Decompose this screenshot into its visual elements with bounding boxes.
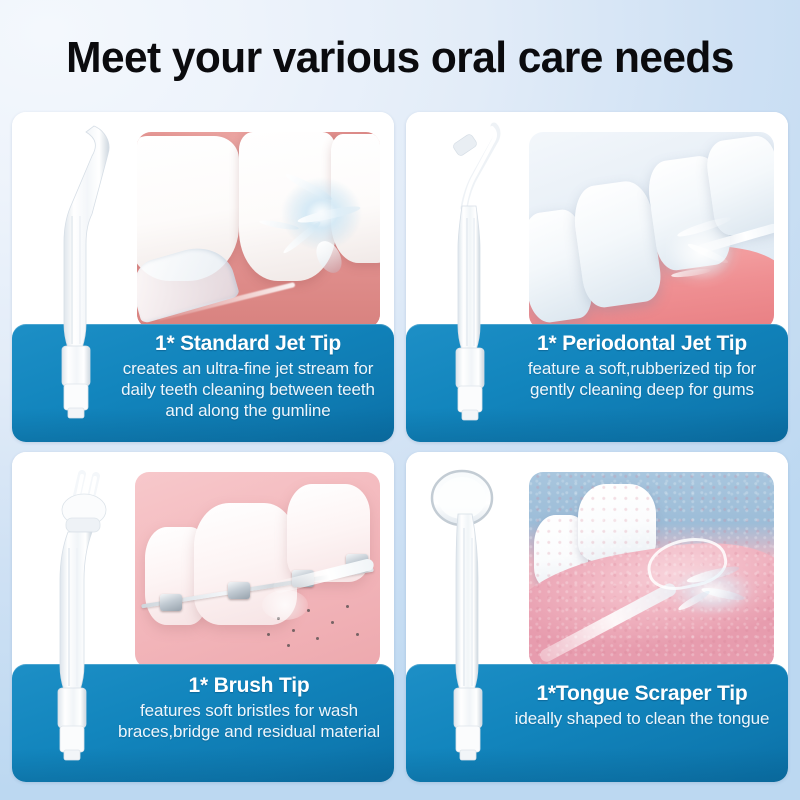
card-title: 1*Tongue Scraper Tip <box>506 680 778 707</box>
card-text-block: 1* Periodontal Jet Tip feature a soft,ru… <box>506 330 778 400</box>
tip-card-grid: 1* Standard Jet Tip creates an ultra-fin… <box>12 112 788 782</box>
card-description: creates an ultra-fine jet stream for dai… <box>112 358 384 421</box>
braces-cleaning-photo <box>135 472 380 668</box>
card-title: 1* Standard Jet Tip <box>112 330 384 357</box>
front-teeth-water-jet-photo <box>137 132 380 328</box>
card-description: features soft bristles for wash braces,b… <box>106 700 392 742</box>
tip-card-brush-tip[interactable]: 1* Brush Tip features soft bristles for … <box>12 452 394 782</box>
card-banner: 1* Periodontal Jet Tip feature a soft,ru… <box>406 324 788 442</box>
card-title: 1* Periodontal Jet Tip <box>506 330 778 357</box>
tip-card-periodontal-jet-tip[interactable]: 1* Periodontal Jet Tip feature a soft,ru… <box>406 112 788 442</box>
card-banner: 1*Tongue Scraper Tip ideally shaped to c… <box>406 664 788 782</box>
card-title: 1* Brush Tip <box>106 672 392 699</box>
page-title: Meet your various oral care needs <box>14 32 786 84</box>
card-text-block: 1*Tongue Scraper Tip ideally shaped to c… <box>506 680 778 729</box>
tip-card-standard-jet-tip[interactable]: 1* Standard Jet Tip creates an ultra-fin… <box>12 112 394 442</box>
card-text-block: 1* Standard Jet Tip creates an ultra-fin… <box>112 330 384 421</box>
card-description: feature a soft,rubberized tip for gently… <box>506 358 778 400</box>
card-banner: 1* Brush Tip features soft bristles for … <box>12 664 394 782</box>
molars-gumline-spray-photo <box>529 132 774 329</box>
card-text-block: 1* Brush Tip features soft bristles for … <box>106 672 392 742</box>
tip-card-tongue-scraper-tip[interactable]: 1*Tongue Scraper Tip ideally shaped to c… <box>406 452 788 782</box>
tongue-surface-spray-photo <box>529 472 774 668</box>
infographic-page: Meet your various oral care needs <box>0 0 800 800</box>
card-description: ideally shaped to clean the tongue <box>506 708 778 729</box>
card-banner: 1* Standard Jet Tip creates an ultra-fin… <box>12 324 394 442</box>
